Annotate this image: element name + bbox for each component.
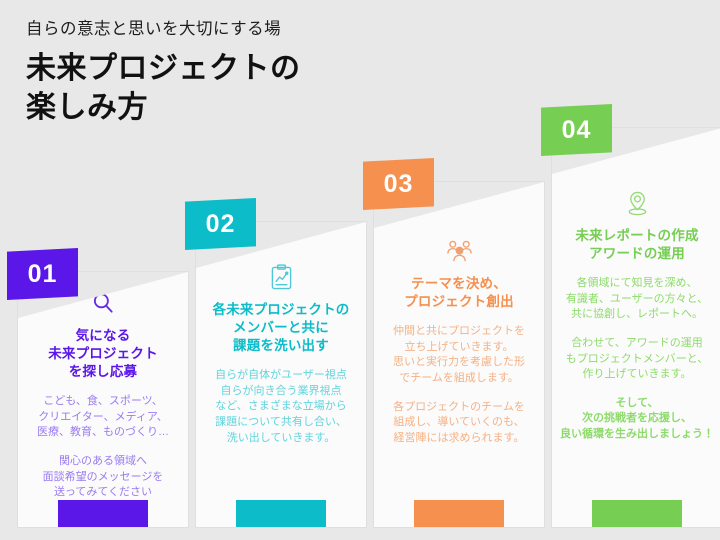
step-card-04[interactable]: 04 未来レポートの作成 アワードの運用 各領域にて知見を深め、 有識者、ユーザ… (552, 128, 720, 527)
card-paragraph-03-b: 各プロジェクトのチームを 組成し、導いていくのも、 経営陣には求められます。 (381, 400, 537, 447)
location-pin-icon (559, 186, 715, 220)
step-badge-03: 03 (363, 158, 434, 210)
card-heading-01: 気になる 未来プロジェクト を探し応募 (25, 327, 181, 381)
card-paragraph-04-a: 各領域にて知見を深め、 有識者、ユーザーの方々と、 共に協創し、レポートへ。 (559, 276, 715, 323)
infographic-slide: 自らの意志と思いを大切にする場 未来プロジェクトの 楽しみ方 01 気になる 未… (0, 0, 720, 540)
step-badge-04: 04 (541, 104, 612, 156)
card-paragraph-02-a: 自らが自体がユーザー視点 自らが向き合う業界視点 など、さまざまな立場から 課題… (203, 368, 359, 446)
step-card-03[interactable]: 03 テーマを決め、 プロジェクト創出 仲間と共にプロジェクトを 立ち上げてい (374, 182, 544, 527)
card-content-03: テーマを決め、 プロジェクト創出 仲間と共にプロジェクトを 立ち上げていきます。… (374, 234, 544, 446)
step-card-02[interactable]: 02 各未来プロジェクトの メンバーと共に 課題を洗い出す 自らが自体がユーザー… (196, 222, 366, 527)
card-paragraph-01-b: 関心のある領域へ 面談希望のメッセージを 送ってみてください (25, 454, 181, 501)
card-heading-03: テーマを決め、 プロジェクト創出 (381, 275, 537, 311)
card-footer-bar-02 (236, 500, 326, 527)
step-badge-02: 02 (185, 198, 256, 250)
card-heading-02: 各未来プロジェクトの メンバーと共に 課題を洗い出す (203, 301, 359, 355)
step-badge-01: 01 (7, 248, 78, 300)
page-title: 未来プロジェクトの 楽しみ方 (26, 49, 301, 128)
people-group-icon (381, 234, 537, 268)
card-footer-bar-03 (414, 500, 504, 527)
card-paragraph-04-b: 合わせて、アワードの運用 もプロジェクトメンバーと、 作り上げていきます。 (559, 336, 715, 383)
card-heading-04: 未来レポートの作成 アワードの運用 (559, 227, 715, 263)
card-content-01: 気になる 未来プロジェクト を探し応募 こども、食、スポーツ、 クリエイター、メ… (18, 286, 188, 501)
card-content-04: 未来レポートの作成 アワードの運用 各領域にて知見を深め、 有識者、ユーザーの方… (552, 186, 720, 443)
eyebrow-text: 自らの意志と思いを大切にする場 (26, 20, 301, 40)
card-closing-04: そして、 次の挑戦者を応援し、 良い循環を生み出しましょう！ (559, 396, 715, 443)
step-number: 03 (384, 170, 414, 199)
card-paragraph-01-a: こども、食、スポーツ、 クリエイター、メディア、 医療、教育、ものづくり… (25, 394, 181, 441)
card-paragraph-03-a: 仲間と共にプロジェクトを 立ち上げていきます。 思いと実行力を考慮した形 でチー… (381, 324, 537, 386)
card-content-02: 各未来プロジェクトの メンバーと共に 課題を洗い出す 自らが自体がユーザー視点 … (196, 260, 366, 446)
card-footer-bar-01 (58, 500, 148, 527)
step-card-01[interactable]: 01 気になる 未来プロジェクト を探し応募 こども、食、スポーツ、 クリエイタ… (18, 272, 188, 527)
card-footer-bar-04 (592, 500, 682, 527)
step-number: 01 (28, 260, 58, 289)
clipboard-chart-icon (203, 260, 359, 294)
step-number: 04 (562, 116, 592, 145)
header: 自らの意志と思いを大切にする場 未来プロジェクトの 楽しみ方 (26, 20, 301, 128)
step-number: 02 (206, 210, 236, 239)
